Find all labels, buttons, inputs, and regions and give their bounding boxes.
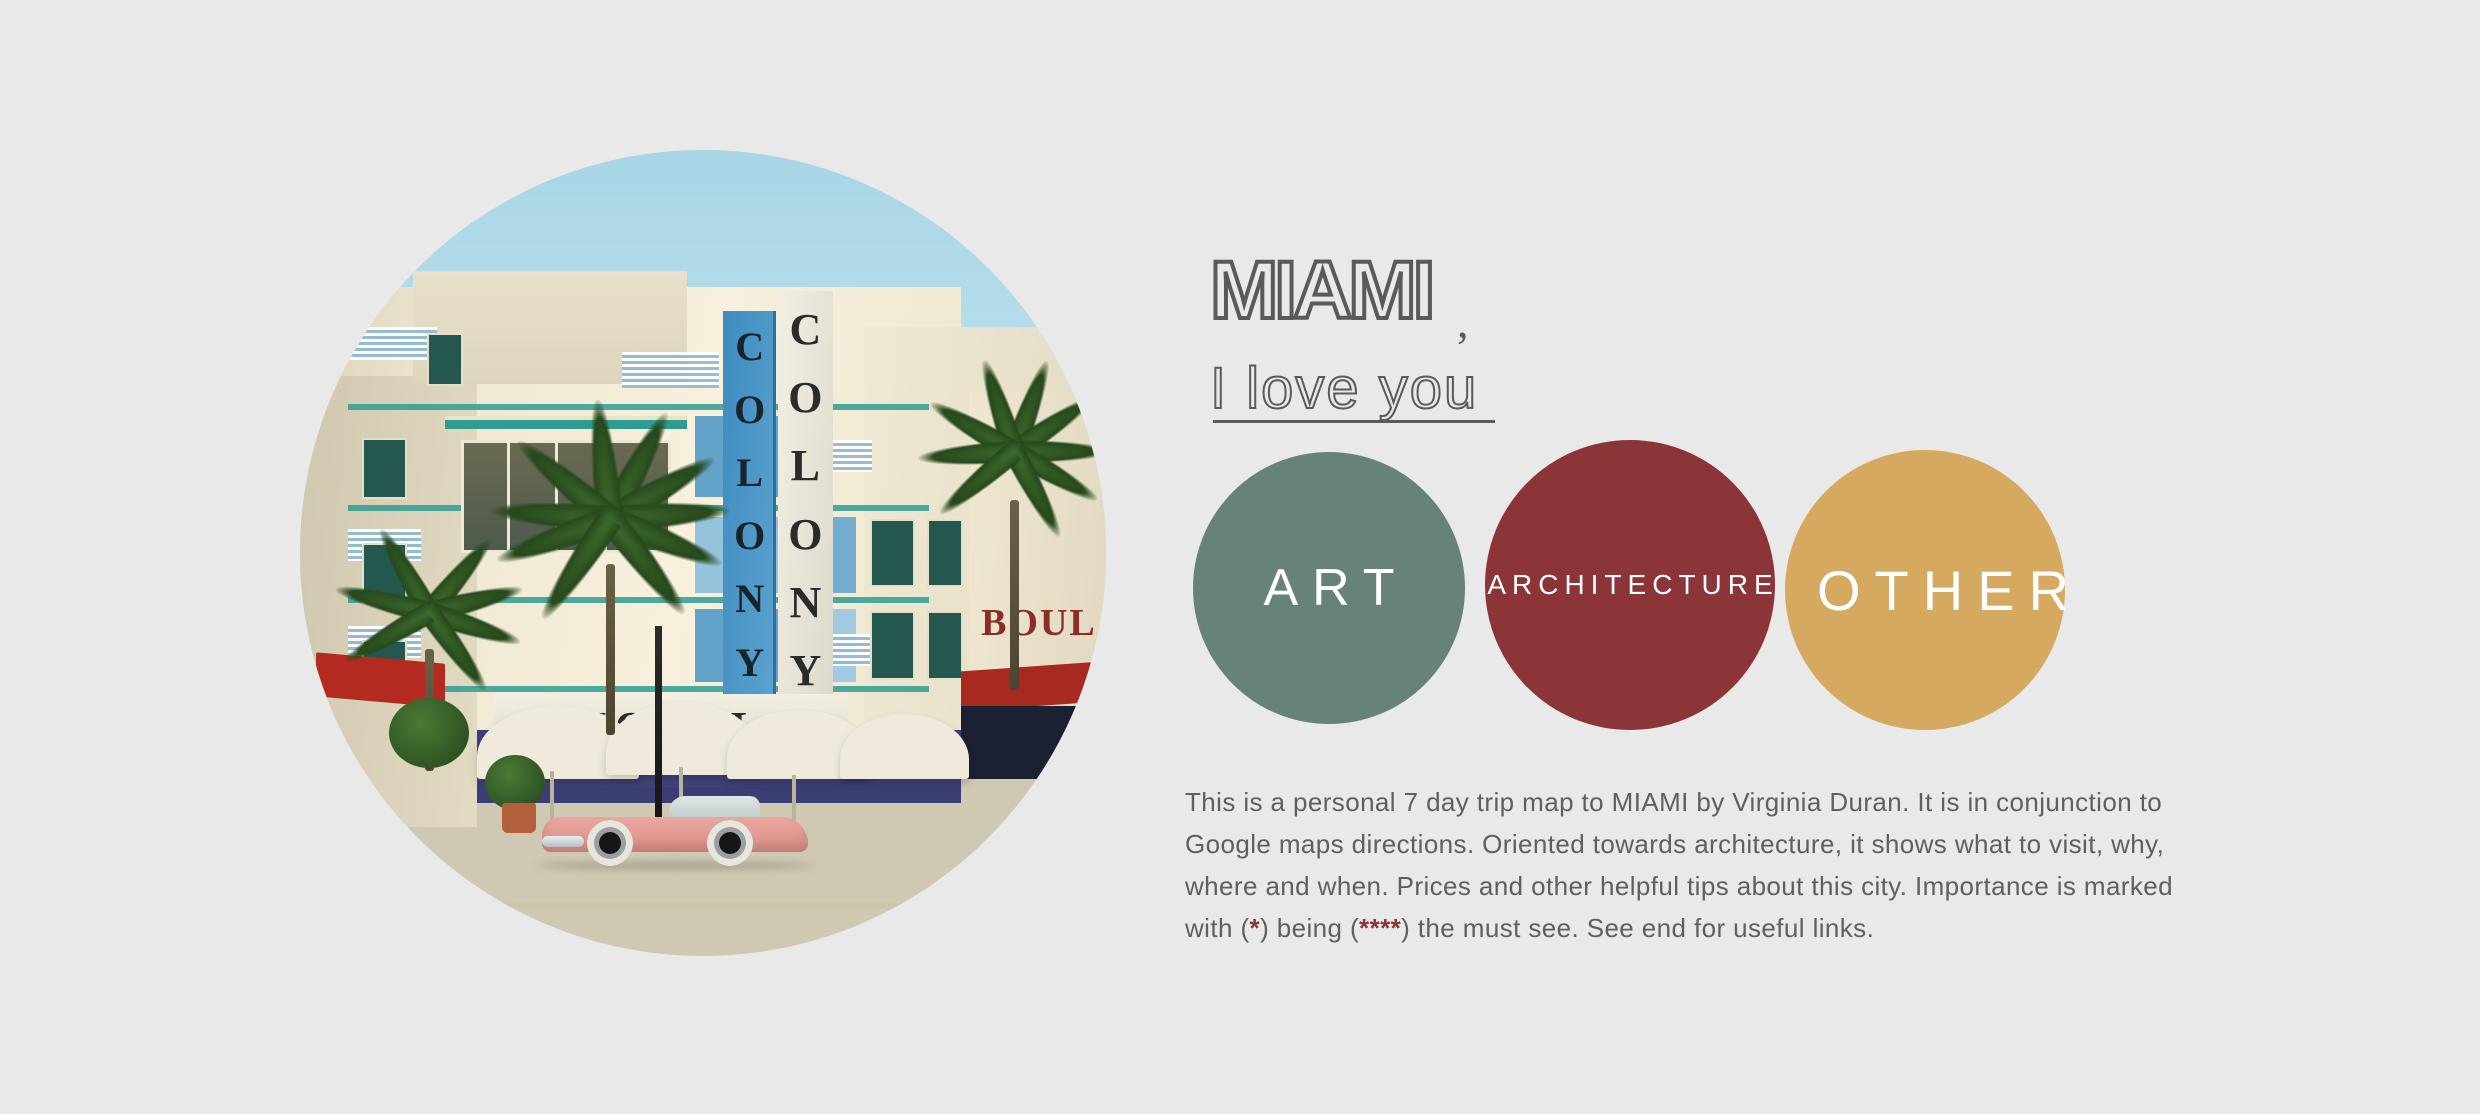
- description-part-3: ) the must see. See end for useful links…: [1401, 913, 1874, 943]
- description-part-2: ) being (: [1260, 913, 1359, 943]
- window: [429, 335, 461, 383]
- title-miami: MIAMI: [1210, 250, 1431, 332]
- flower-pot: [502, 803, 536, 833]
- louvre-detail: [832, 634, 872, 666]
- category-circle-other[interactable]: OTHER: [1785, 450, 2065, 730]
- colony-vertical-sign-blue: COLONY: [723, 311, 776, 698]
- content-column: MIAMI , I love you ART ARCHITECTURE OTHE…: [1185, 0, 2405, 1114]
- category-circles: ART ARCHITECTURE OTHER: [1185, 440, 2365, 730]
- category-label-other: OTHER: [1803, 558, 2083, 623]
- potted-shrub: [485, 755, 545, 810]
- road-line: [300, 903, 1106, 908]
- importance-star-single: *: [1250, 913, 1261, 943]
- neighbor-shadow: [961, 706, 1106, 779]
- title-underline: [1213, 420, 1495, 423]
- category-label-art: ART: [1249, 558, 1408, 618]
- description-paragraph: This is a personal 7 day trip map to MIA…: [1185, 781, 2225, 949]
- pink-classic-car: [542, 799, 808, 868]
- window: [364, 440, 404, 496]
- colony-vertical-sign-white: COLONY: [778, 291, 833, 710]
- title-comma: ,: [1457, 295, 1469, 348]
- importance-star-quad: ****: [1359, 913, 1401, 943]
- colony-hotel-photo: BOUL COLONY COLONY HOTEL: [300, 150, 1106, 956]
- car-body: [542, 817, 808, 853]
- louvre-detail: [622, 352, 719, 388]
- car-wheel: [707, 820, 753, 866]
- category-circle-architecture[interactable]: ARCHITECTURE: [1485, 440, 1775, 730]
- car-wheel: [587, 820, 633, 866]
- palm-tree: [510, 505, 710, 735]
- photo-canvas: BOUL COLONY COLONY HOTEL: [300, 150, 1106, 956]
- title-i-love-you: I love you: [1210, 360, 1478, 418]
- louvre-detail: [832, 440, 872, 472]
- category-circle-art[interactable]: ART: [1193, 452, 1465, 724]
- car-chrome-bumper: [542, 836, 585, 847]
- louvre-detail: [348, 327, 437, 359]
- window: [872, 613, 912, 677]
- palm-tree: [929, 440, 1099, 690]
- street-tree: [389, 698, 469, 768]
- poster-page: BOUL COLONY COLONY HOTEL: [0, 0, 2480, 1114]
- teal-band: [348, 404, 928, 410]
- window: [872, 521, 912, 585]
- car-shadow: [536, 862, 813, 869]
- category-label-architecture: ARCHITECTURE: [1481, 569, 1778, 601]
